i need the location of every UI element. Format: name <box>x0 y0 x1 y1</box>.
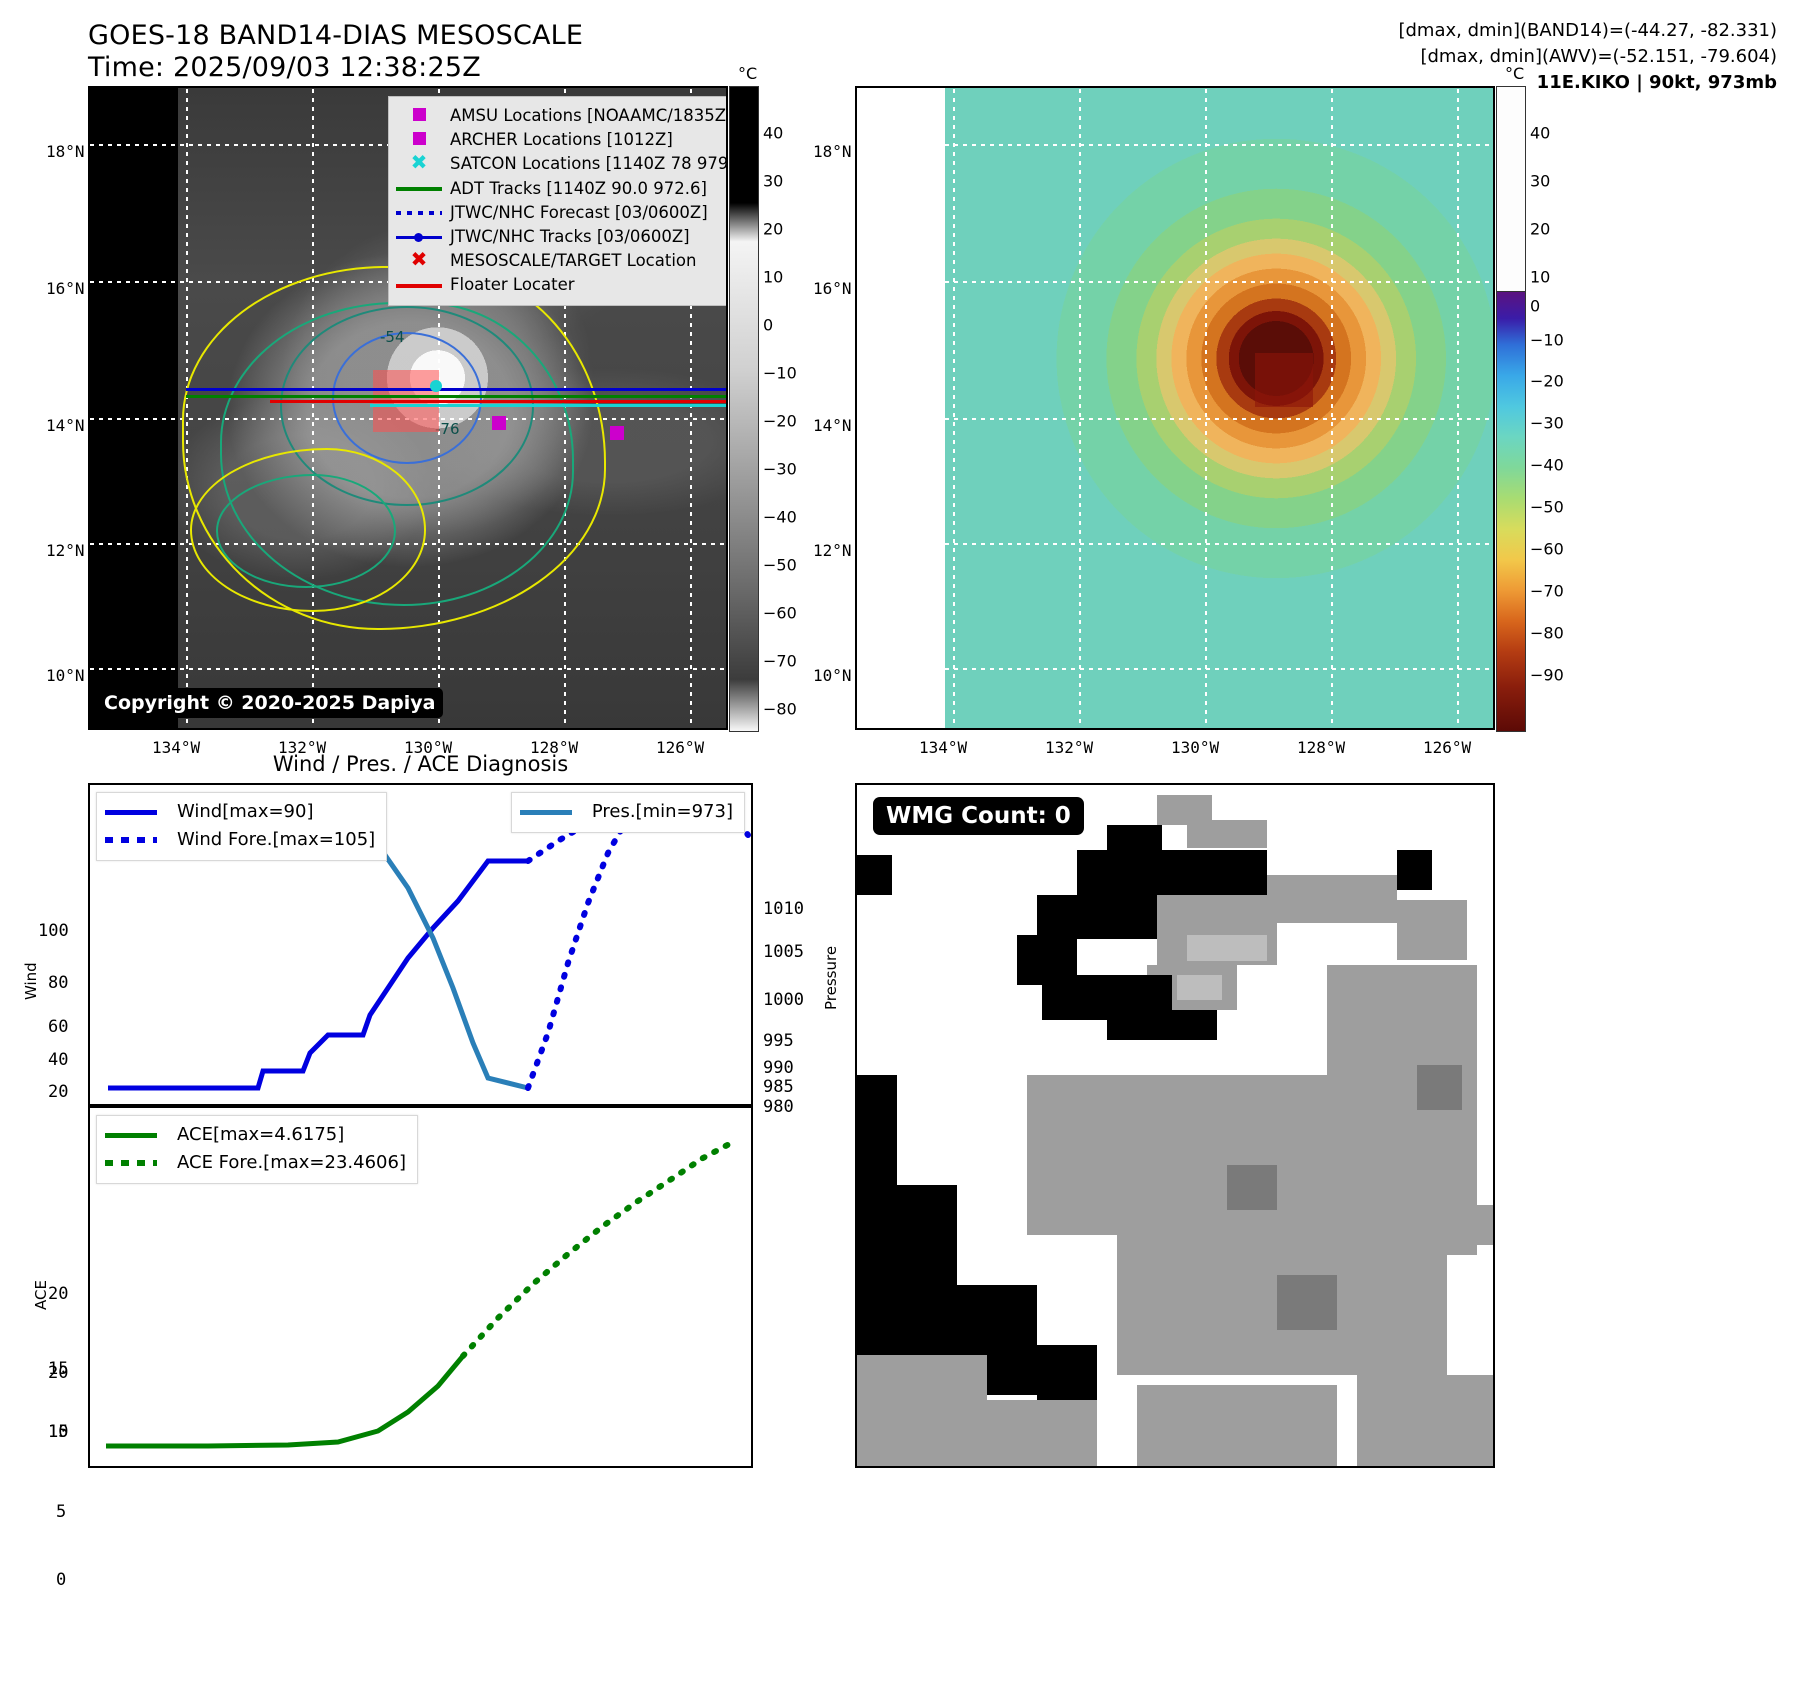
wmg-cell <box>1077 850 1267 896</box>
dmax-awv-readout: [dmax, dmin](AWV)=(-52.151, -79.604) <box>1137 44 1777 70</box>
page-timestamp: Time: 2025/09/03 12:38:25Z <box>88 52 481 83</box>
wind-forecast-dotted-icon <box>105 837 157 843</box>
cir-gridline-lon <box>1079 88 1081 730</box>
ir-map-legend: AMSU Locations [NOAAMC/1835Z 62 990] ARC… <box>388 96 728 306</box>
wind-axis-label: Wind <box>22 962 40 1000</box>
pressure-forecast-line <box>528 801 748 1088</box>
legend-label: Wind[max=90] <box>177 798 375 826</box>
cb-tick: −50 <box>763 556 797 575</box>
wmg-cell <box>1187 820 1267 848</box>
cb-tick: −60 <box>1530 540 1564 559</box>
wind-observed-line <box>108 861 528 1088</box>
wmg-count-badge: WMG Count: 0 <box>873 797 1084 835</box>
satcon-location-marker <box>430 380 442 392</box>
wmg-cell <box>1137 1385 1337 1468</box>
cb-tick: −90 <box>1530 666 1564 685</box>
cir-target-box <box>1255 353 1313 407</box>
ace-forecast-dotted-icon <box>105 1160 157 1166</box>
cir-gridline-lat <box>945 418 1495 420</box>
legend-label: JTWC/NHC Forecast [03/0600Z] <box>450 201 728 225</box>
pressure-ytick: 985 <box>763 1077 794 1097</box>
cir-colorbar <box>1496 291 1526 732</box>
ace-observed-line <box>106 1356 463 1446</box>
ir-colorbar-unit: °C <box>738 64 757 83</box>
wind-ytick: 100 <box>38 921 69 941</box>
page-title: GOES-18 BAND14-DIAS MESOSCALE <box>88 20 583 51</box>
ace-ytick-10: 10 <box>48 1422 68 1442</box>
color-enhanced-satellite-panel[interactable] <box>855 86 1495 730</box>
wmg-cell <box>1277 1275 1337 1330</box>
wmg-cell <box>857 855 892 895</box>
cir-lat-tick: 10°N <box>813 666 852 685</box>
cir-gridline-lat <box>945 144 1495 146</box>
wmg-cell <box>857 1355 987 1468</box>
wmg-cell <box>987 1400 1097 1468</box>
legend-row-jtwc-tracks: JTWC/NHC Tracks [03/0600Z] <box>396 225 728 249</box>
ir-lat-tick: 10°N <box>46 666 85 685</box>
ace-ytick-0: 0 <box>56 1570 66 1590</box>
diagnosis-title: Wind / Pres. / ACE Diagnosis <box>88 752 753 776</box>
cir-lon-tick: 128°W <box>1297 738 1345 757</box>
wind-ytick: 80 <box>48 973 68 993</box>
wmg-cell <box>1227 1165 1277 1210</box>
wind-line-icon <box>105 810 157 815</box>
cir-lon-tick: 126°W <box>1423 738 1471 757</box>
cir-lat-tick: 18°N <box>813 142 852 161</box>
ir-colorbar <box>729 86 759 732</box>
ace-ytick-5: 5 <box>56 1502 66 1522</box>
ace-legend: ACE[max=4.6175] ACE Fore.[max=23.4606] <box>96 1115 418 1184</box>
cir-lon-tick: 132°W <box>1045 738 1093 757</box>
legend-label: ACE Fore.[max=23.4606] <box>177 1149 406 1177</box>
legend-label: Floater Locater <box>450 273 728 297</box>
legend-label: Pres.[min=973] <box>592 798 733 826</box>
cir-gridline-lat <box>945 281 1495 283</box>
wmg-cell <box>1107 1010 1217 1040</box>
cir-colorbar-ticklabels: 40 30 20 10 0 −10 −20 −30 −40 −50 −60 −7… <box>1530 86 1600 730</box>
legend-label: ARCHER Locations [1012Z] <box>450 128 728 152</box>
cb-tick: −40 <box>763 508 797 527</box>
wmg-cell <box>1357 1375 1495 1468</box>
legend-label: Wind Fore.[max=105] <box>177 826 375 854</box>
wmg-cell <box>1037 1345 1097 1400</box>
cb-tick: −30 <box>763 460 797 479</box>
cb-tick: 10 <box>763 268 783 287</box>
satcon-track-line <box>370 404 728 407</box>
pressure-ytick: 995 <box>763 1031 794 1051</box>
wmg-cell <box>1037 895 1157 939</box>
wind-ytick: 60 <box>48 1017 68 1037</box>
cb-tick: 30 <box>763 172 783 191</box>
wmg-cell <box>1187 935 1267 961</box>
pressure-axis-label: Pressure <box>822 946 840 1010</box>
legend-label: JTWC/NHC Tracks [03/0600Z] <box>450 225 728 249</box>
legend-label: ADT Tracks [1140Z 90.0 972.6] <box>450 177 728 201</box>
wind-ytick: 40 <box>48 1050 68 1070</box>
ace-legend-row: ACE[max=4.6175] <box>105 1121 406 1149</box>
cir-lat-tick: 14°N <box>813 416 852 435</box>
legend-row-amsu: AMSU Locations [NOAAMC/1835Z 62 990] <box>396 104 728 128</box>
legend-label: SATCON Locations [1140Z 78 979] <box>450 152 728 176</box>
cb-tick: −40 <box>1530 456 1564 475</box>
legend-label: AMSU Locations [NOAAMC/1835Z 62 990] <box>450 104 728 128</box>
wmg-panel[interactable]: WMG Count: 0 <box>855 783 1495 1468</box>
adt-track-line <box>186 395 728 398</box>
cb-tick: 0 <box>1530 297 1540 316</box>
pressure-legend-row: Pres.[min=973] <box>520 798 733 826</box>
pressure-ytick: 1005 <box>763 942 804 962</box>
jtwc-track-line-marker-icon <box>396 233 442 242</box>
cir-colorbar-unit: °C <box>1505 64 1524 83</box>
floater-line-icon <box>396 284 442 288</box>
cb-tick: −60 <box>763 604 797 623</box>
color-ir-imagery <box>945 88 1495 730</box>
wmg-cell <box>1397 850 1432 890</box>
cb-tick: −80 <box>1530 624 1564 643</box>
wmg-cell <box>857 1075 897 1355</box>
archer-location-marker <box>610 426 624 440</box>
adt-line-icon <box>396 187 442 191</box>
satcon-x-icon: ✖ <box>411 156 428 169</box>
cb-tick: 0 <box>763 316 773 335</box>
legend-row-mesoscale: ✖ MESOSCALE/TARGET Location <box>396 249 728 273</box>
ace-chart[interactable]: ACE[max=4.6175] ACE Fore.[max=23.4606] <box>88 1106 753 1468</box>
wmg-cell <box>897 1185 957 1365</box>
wmg-cell <box>1277 1115 1477 1255</box>
pressure-ytick: 1010 <box>763 899 804 919</box>
wmg-cell <box>1417 1065 1462 1110</box>
cb-tick: 10 <box>1530 268 1550 287</box>
cb-tick: −70 <box>1530 582 1564 601</box>
jtwc-track-line <box>186 388 728 391</box>
dmax-band14-readout: [dmax, dmin](BAND14)=(-44.27, -82.331) <box>1137 18 1777 44</box>
cir-gridline-lon <box>953 88 955 730</box>
ir-satellite-panel[interactable]: -54 -76 Copyright © 2020-2025 Dapiya AMS… <box>88 86 728 730</box>
cir-gridline-lat <box>945 543 1495 545</box>
wind-pressure-chart[interactable]: Wind[max=90] Wind Fore.[max=105] Pres.[m… <box>88 783 753 1106</box>
ace-ytick-20: 20 <box>48 1284 68 1304</box>
wmg-cell <box>1467 1205 1495 1245</box>
floater-locater-line <box>270 400 728 403</box>
cir-colorbar-white <box>1496 86 1526 293</box>
wind-legend-row: Wind[max=90] <box>105 798 375 826</box>
cb-tick: −80 <box>763 700 797 719</box>
wind-forecast-legend-row: Wind Fore.[max=105] <box>105 826 375 854</box>
ir-lat-tick: 16°N <box>46 279 85 298</box>
wmg-cell <box>1267 875 1397 923</box>
cb-tick: −50 <box>1530 498 1564 517</box>
cb-tick: −10 <box>1530 331 1564 350</box>
ace-line-icon <box>105 1133 157 1138</box>
archer-square-icon <box>413 132 426 145</box>
ace-ytick-15: 15 <box>48 1359 68 1379</box>
ir-lat-tick: 12°N <box>46 541 85 560</box>
cir-lon-tick: 134°W <box>919 738 967 757</box>
cir-lat-tick: 12°N <box>813 541 852 560</box>
cb-tick: 20 <box>1530 220 1550 239</box>
ir-lat-tick: 14°N <box>46 416 85 435</box>
ir-colorbar-ticklabels: 40 30 20 10 0 −10 −20 −30 −40 −50 −60 −7… <box>763 86 833 730</box>
legend-row-floater: Floater Locater <box>396 273 728 297</box>
pressure-ytick: 980 <box>763 1097 794 1117</box>
legend-row-satcon: ✖ SATCON Locations [1140Z 78 979] <box>396 152 728 176</box>
wmg-cell <box>1397 900 1467 960</box>
cir-lat-tick: 16°N <box>813 279 852 298</box>
cir-gridline-lat <box>945 668 1495 670</box>
cb-tick: −20 <box>1530 372 1564 391</box>
pressure-line-icon <box>520 810 572 815</box>
legend-row-adt: ADT Tracks [1140Z 90.0 972.6] <box>396 177 728 201</box>
ir-contour-label: -54 <box>380 328 405 346</box>
cir-lon-tick: 130°W <box>1171 738 1219 757</box>
pressure-ytick: 990 <box>763 1058 794 1078</box>
pressure-legend: Pres.[min=973] <box>511 792 745 833</box>
cb-tick: −10 <box>763 364 797 383</box>
cb-tick: −70 <box>763 652 797 671</box>
ace-forecast-legend-row: ACE Fore.[max=23.4606] <box>105 1149 406 1177</box>
header-readouts: [dmax, dmin](BAND14)=(-44.27, -82.331) [… <box>1137 18 1777 96</box>
amsu-location-marker <box>492 416 506 430</box>
cb-tick: 40 <box>1530 124 1550 143</box>
cir-gridline-lon <box>1457 88 1459 730</box>
legend-label: ACE[max=4.6175] <box>177 1121 406 1149</box>
pressure-ytick: 1000 <box>763 990 804 1010</box>
legend-row-archer: ARCHER Locations [1012Z] <box>396 128 728 152</box>
copyright-notice: Copyright © 2020-2025 Dapiya <box>96 688 443 718</box>
cb-tick: 40 <box>763 124 783 143</box>
jtwc-forecast-dotted-icon <box>396 211 442 215</box>
amsu-square-icon <box>413 108 426 121</box>
cir-gridline-lon <box>1205 88 1207 730</box>
ir-contour-green-sw <box>216 474 396 588</box>
cb-tick: 30 <box>1530 172 1550 191</box>
ir-lat-tick: 18°N <box>46 142 85 161</box>
legend-row-jtwc-forecast: JTWC/NHC Forecast [03/0600Z] <box>396 201 728 225</box>
mesoscale-x-icon: ✖ <box>411 253 428 266</box>
cb-tick: −20 <box>763 412 797 431</box>
cir-gridline-lon <box>1331 88 1333 730</box>
wind-ytick: 20 <box>48 1082 68 1102</box>
cb-tick: 20 <box>763 220 783 239</box>
wmg-cell <box>1177 975 1222 1000</box>
ace-forecast-line <box>463 1142 733 1356</box>
wind-legend: Wind[max=90] Wind Fore.[max=105] <box>96 792 387 861</box>
cb-tick: −30 <box>1530 414 1564 433</box>
legend-label: MESOSCALE/TARGET Location <box>450 249 728 273</box>
